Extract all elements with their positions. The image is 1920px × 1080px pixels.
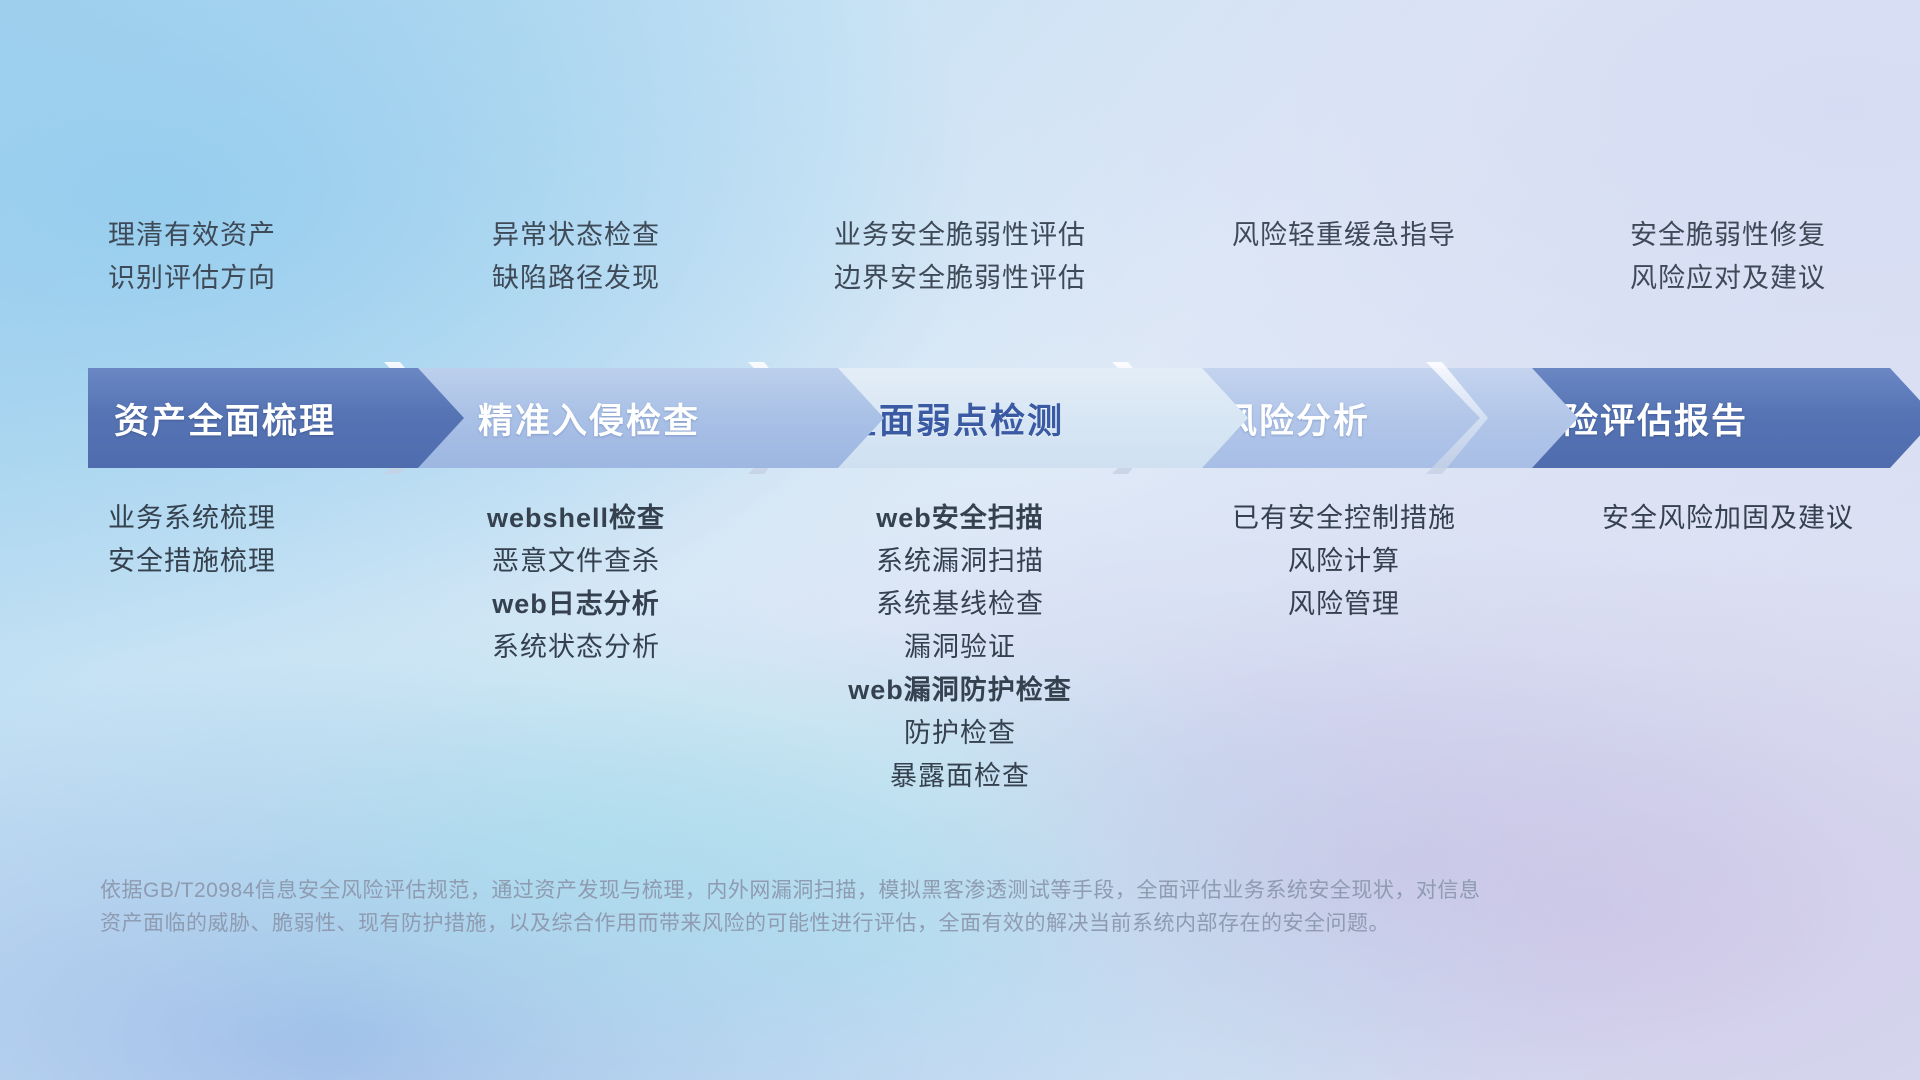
footer-line-2: 资产面临的威胁、脆弱性、现有防护措施，以及综合作用而带来风险的可能性进行评估，全… <box>100 908 1660 941</box>
detail-item: 恶意文件查杀 <box>492 548 660 575</box>
detail-item: 已有安全控制措施 <box>1232 505 1456 532</box>
top-notes-col-asset-inventory: 理清有效资产 识别评估方向 <box>0 222 384 342</box>
top-notes-col-intrusion-check: 异常状态检查 缺陷路径发现 <box>384 222 768 342</box>
detail-item: webshell检查 <box>487 505 665 532</box>
footer-line-1: 依据GB/T20984信息安全风险评估规范，通过资产发现与梳理，内外网漏洞扫描，… <box>100 875 1660 908</box>
detail-item: 业务系统梳理 <box>108 505 276 532</box>
detail-item: web安全扫描 <box>876 505 1044 532</box>
bottom-details-row: 业务系统梳理 安全措施梳理 webshell检查 恶意文件查杀 web日志分析 … <box>0 505 1920 790</box>
process-step-intrusion-check[interactable]: 精准入侵检查 <box>396 368 884 468</box>
detail-item: 风险计算 <box>1288 548 1400 575</box>
top-note: 安全脆弱性修复 <box>1630 222 1826 249</box>
top-note: 异常状态检查 <box>492 222 660 249</box>
details-col-weakness-detection: web安全扫描 系统漏洞扫描 系统基线检查 漏洞验证 web漏洞防护检查 防护检… <box>768 505 1152 790</box>
top-note: 风险轻重缓急指导 <box>1232 222 1456 249</box>
process-step-asset-inventory[interactable]: 资产全面梳理 <box>88 368 464 468</box>
detail-item: 系统漏洞扫描 <box>876 548 1044 575</box>
details-col-asset-inventory: 业务系统梳理 安全措施梳理 <box>0 505 384 790</box>
top-note: 理清有效资产 <box>108 222 276 249</box>
top-notes-col-risk-analysis: 风险轻重缓急指导 <box>1152 222 1536 342</box>
detail-item: 安全措施梳理 <box>108 548 276 575</box>
top-note: 缺陷路径发现 <box>492 265 660 292</box>
risk-assessment-process-diagram: 理清有效资产 识别评估方向 异常状态检查 缺陷路径发现 业务安全脆弱性评估 边界… <box>0 0 1920 1080</box>
top-note: 边界安全脆弱性评估 <box>834 265 1086 292</box>
process-step-title: 资产全面梳理 <box>114 393 336 444</box>
top-notes-col-weakness-detection: 业务安全脆弱性评估 边界安全脆弱性评估 <box>768 222 1152 342</box>
process-chevron-band: 资产全面梳理 精准入侵检查 全面弱点检测 风险分析 风险评估报告 <box>88 368 1848 468</box>
detail-item: web漏洞防护检查 <box>848 677 1072 704</box>
detail-item: 防护检查 <box>904 720 1016 747</box>
top-notes-col-risk-report: 安全脆弱性修复 风险应对及建议 <box>1536 222 1920 342</box>
details-col-intrusion-check: webshell检查 恶意文件查杀 web日志分析 系统状态分析 <box>384 505 768 790</box>
detail-item: 安全风险加固及建议 <box>1602 505 1854 532</box>
detail-item: web日志分析 <box>492 591 660 618</box>
detail-item: 漏洞验证 <box>904 634 1016 661</box>
detail-item: 暴露面检查 <box>890 763 1030 790</box>
detail-item: 系统状态分析 <box>492 634 660 661</box>
top-note: 风险应对及建议 <box>1630 265 1826 292</box>
footer-description: 依据GB/T20984信息安全风险评估规范，通过资产发现与梳理，内外网漏洞扫描，… <box>100 875 1660 940</box>
top-note: 识别评估方向 <box>108 265 276 292</box>
detail-item: 风险管理 <box>1288 591 1400 618</box>
top-notes-row: 理清有效资产 识别评估方向 异常状态检查 缺陷路径发现 业务安全脆弱性评估 边界… <box>0 222 1920 342</box>
details-col-risk-analysis: 已有安全控制措施 风险计算 风险管理 <box>1152 505 1536 790</box>
top-note: 业务安全脆弱性评估 <box>834 222 1086 249</box>
process-step-title: 精准入侵检查 <box>478 393 700 444</box>
detail-item: 系统基线检查 <box>876 591 1044 618</box>
details-col-risk-report: 安全风险加固及建议 <box>1536 505 1920 790</box>
